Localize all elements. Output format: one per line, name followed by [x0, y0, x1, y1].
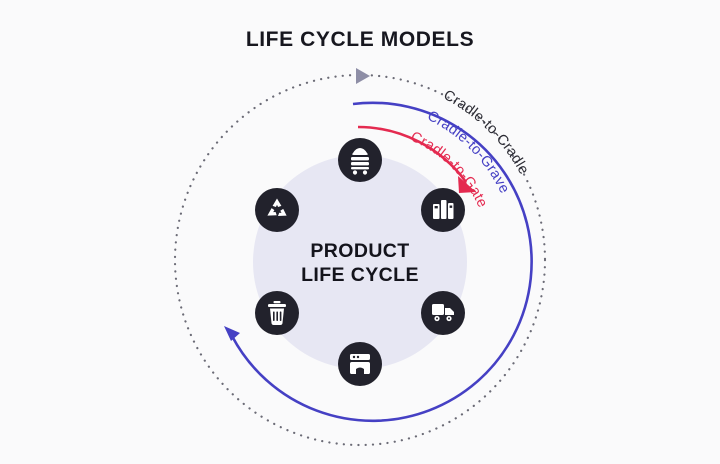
stage-node-recycling[interactable] [255, 188, 299, 232]
cradle-to-grave-arrowhead [224, 326, 240, 341]
stage-node-raw-material-extraction[interactable] [338, 138, 382, 182]
appliance-icon [350, 354, 370, 374]
life-cycle-diagram: Cradle-to-Cradle Cradle-to-Grave Cradle-… [0, 0, 720, 464]
stage-node-manufacturing[interactable] [421, 188, 465, 232]
cradle-to-cradle-arrowhead [356, 68, 370, 84]
center-title-line2: LIFE CYCLE [301, 264, 419, 286]
diagram-canvas: LIFE CYCLE MODELS Crad [0, 0, 720, 464]
stage-node-use[interactable] [338, 342, 382, 386]
stage-node-disposal[interactable] [255, 291, 299, 335]
stage-node-distribution[interactable] [421, 291, 465, 335]
node-background [255, 188, 299, 232]
center-title-line1: PRODUCT [310, 240, 409, 262]
product-life-cycle-disc [253, 155, 467, 369]
